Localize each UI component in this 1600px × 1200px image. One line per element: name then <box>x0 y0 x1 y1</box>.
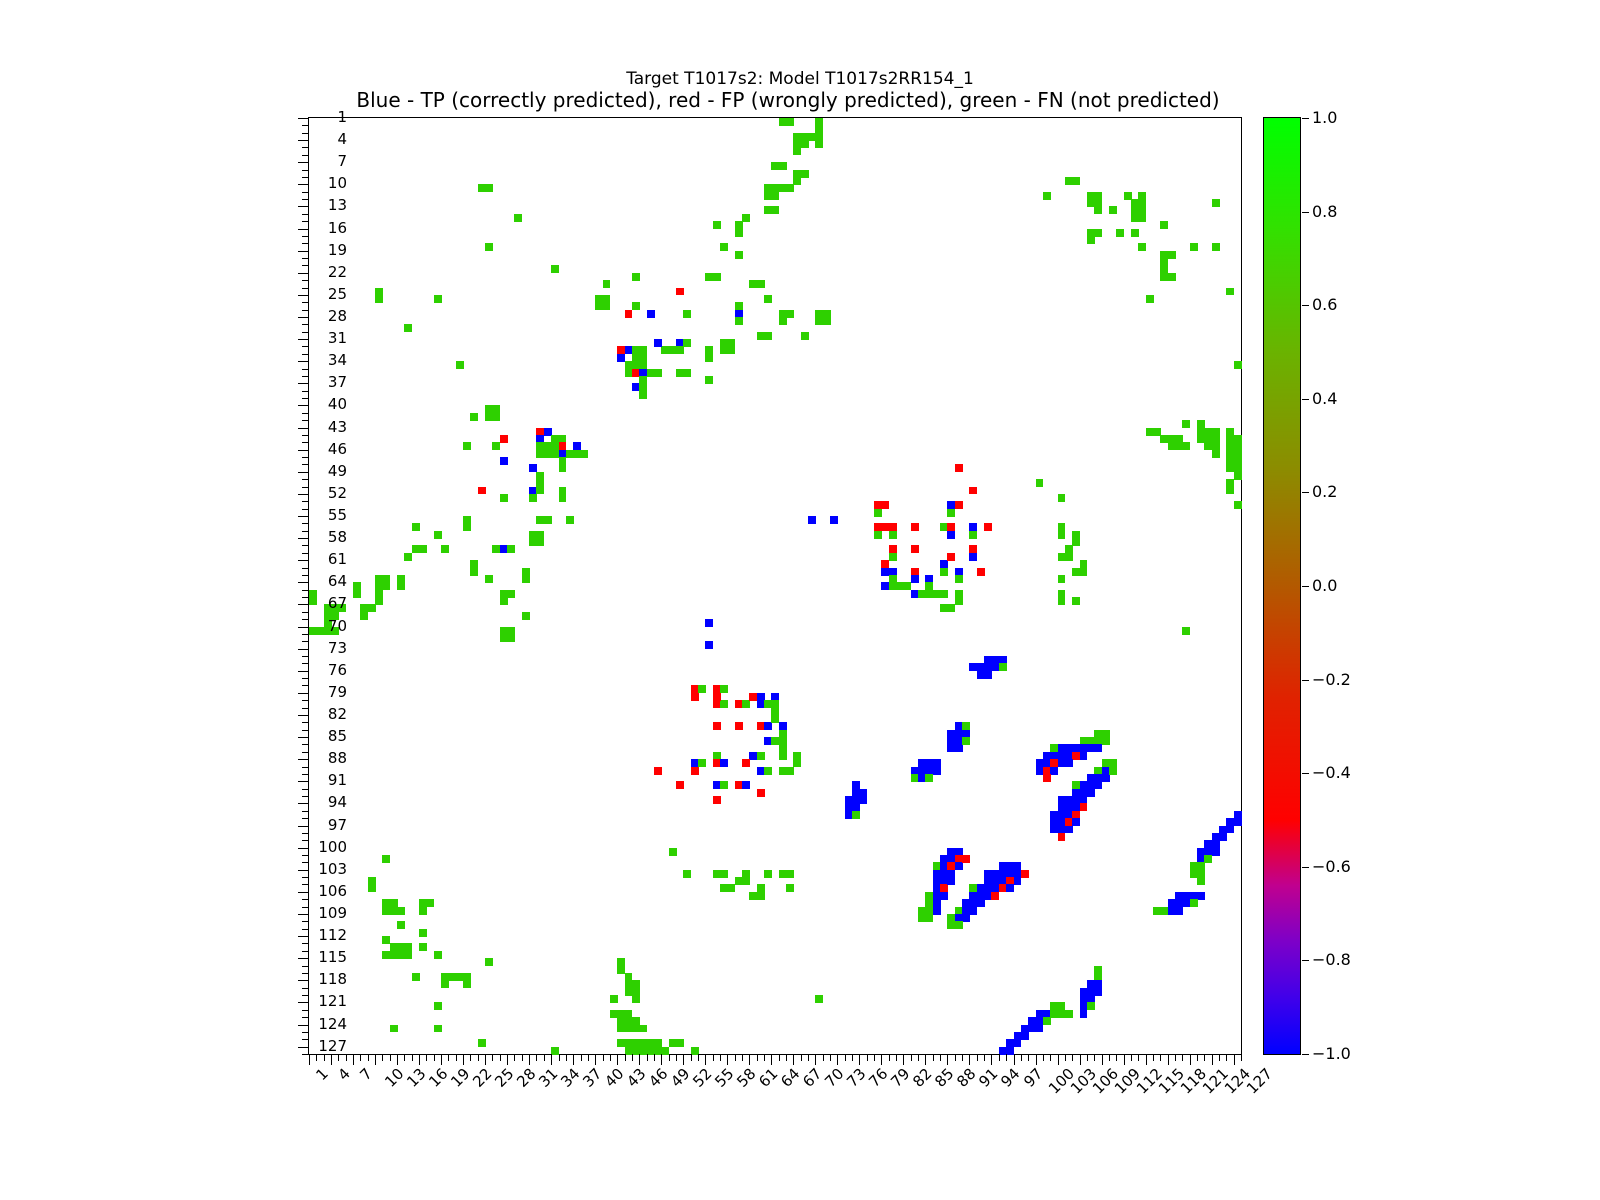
y-tick-label: 25 <box>328 287 347 302</box>
contact-cell-fn <box>404 951 412 959</box>
x-tick <box>1102 1054 1103 1065</box>
x-tick <box>1014 1054 1015 1065</box>
y-tick-label: 55 <box>328 508 347 523</box>
x-tick <box>353 1054 354 1065</box>
contact-cell-fp <box>478 487 486 495</box>
x-tick-label: 7 <box>358 1066 375 1083</box>
colorbar-tick-label: 0.2 <box>1312 484 1337 500</box>
y-tick <box>302 995 309 996</box>
y-tick <box>302 523 309 524</box>
x-tick <box>698 1054 699 1061</box>
y-tick <box>302 435 309 436</box>
x-tick <box>448 1054 449 1061</box>
y-tick <box>298 295 309 296</box>
contact-cell-fn <box>419 929 427 937</box>
contact-cell-fn <box>434 1025 442 1033</box>
y-tick-label: 58 <box>328 530 347 545</box>
y-tick <box>298 206 309 207</box>
colorbar-tick <box>1302 212 1309 213</box>
contact-cell-fn <box>390 1025 398 1033</box>
y-tick <box>302 391 309 392</box>
contact-cell-fn <box>544 516 552 524</box>
contact-cell-fn <box>536 538 544 546</box>
x-tick <box>1006 1054 1007 1061</box>
contact-cell-tp <box>1080 1010 1088 1018</box>
y-tick-label: 124 <box>318 1017 347 1032</box>
x-tick <box>368 1054 369 1061</box>
contact-cell-fn <box>1058 531 1066 539</box>
y-tick <box>298 317 309 318</box>
y-tick <box>302 332 309 333</box>
contact-cell-fp <box>911 545 919 553</box>
contact-cell-tp <box>654 339 662 347</box>
y-tick-label: 7 <box>337 154 347 169</box>
contact-cell-fn <box>485 243 493 251</box>
contact-cell-fn <box>1094 206 1102 214</box>
x-tick <box>603 1054 604 1061</box>
y-tick-label: 61 <box>328 552 347 567</box>
contact-cell-fn <box>1072 597 1080 605</box>
y-tick <box>302 722 309 723</box>
y-tick <box>302 221 309 222</box>
contact-cell-tp <box>947 531 955 539</box>
contact-cell-fn <box>713 221 721 229</box>
x-tick-label: 4 <box>336 1066 353 1083</box>
x-tick <box>727 1054 728 1065</box>
x-tick <box>1094 1054 1095 1061</box>
x-tick <box>360 1054 361 1061</box>
contact-cell-fn <box>793 759 801 767</box>
contact-cell-fn <box>514 214 522 222</box>
y-tick <box>298 1047 309 1048</box>
contact-cell-fn <box>1058 575 1066 583</box>
y-tick-label: 73 <box>328 641 347 656</box>
x-tick-label: 1 <box>314 1066 331 1083</box>
contact-cell-tp <box>500 457 508 465</box>
x-tick <box>764 1054 765 1061</box>
x-tick <box>1175 1054 1176 1061</box>
y-tick <box>298 958 309 959</box>
contact-cell-fn <box>801 140 809 148</box>
x-tick <box>485 1054 486 1065</box>
contact-cell-fp <box>991 892 999 900</box>
y-tick-label: 52 <box>328 486 347 501</box>
y-tick <box>302 921 309 922</box>
x-tick <box>1160 1054 1161 1061</box>
x-tick <box>441 1054 442 1065</box>
colorbar-tick-label: −0.6 <box>1312 859 1351 875</box>
x-tick <box>874 1054 875 1061</box>
x-tick <box>713 1054 714 1061</box>
y-tick <box>302 685 309 686</box>
x-tick <box>1036 1054 1037 1065</box>
contact-cell-tp <box>969 553 977 561</box>
y-tick <box>302 752 309 753</box>
x-tick <box>324 1054 325 1061</box>
contact-cell-fn <box>500 494 508 502</box>
x-tick <box>779 1054 780 1061</box>
contact-cell-fp <box>713 722 721 730</box>
contact-cell-tp <box>1175 907 1183 915</box>
x-tick <box>911 1054 912 1061</box>
contact-cell-fn <box>786 870 794 878</box>
contact-cell-fp <box>955 501 963 509</box>
x-tick <box>955 1054 956 1061</box>
contact-cell-fn <box>1226 487 1234 495</box>
contact-cell-fn <box>735 317 743 325</box>
x-tick <box>309 1054 310 1065</box>
contact-cell-fn <box>969 531 977 539</box>
colorbar-tick <box>1302 586 1309 587</box>
contact-cell-fn <box>683 369 691 377</box>
y-tick <box>302 641 309 642</box>
x-tick <box>1058 1054 1059 1065</box>
colorbar-gradient <box>1264 118 1300 1054</box>
contact-cell-fp <box>735 722 743 730</box>
contact-cell-fn <box>522 612 530 620</box>
contact-cell-fn <box>1138 214 1146 222</box>
contact-cell-tp <box>1087 789 1095 797</box>
x-tick <box>507 1054 508 1065</box>
contact-cell-fp <box>947 553 955 561</box>
contact-cell-tp <box>830 516 838 524</box>
contact-cell-fn <box>426 899 434 907</box>
x-tick <box>1234 1054 1235 1065</box>
y-tick <box>302 265 309 266</box>
x-tick <box>837 1054 838 1065</box>
contact-cell-fn <box>492 442 500 450</box>
x-tick <box>1153 1054 1154 1061</box>
colorbar-tick-label: 0.4 <box>1312 391 1337 407</box>
y-tick <box>298 162 309 163</box>
x-tick <box>852 1054 853 1061</box>
contact-cell-fn <box>485 575 493 583</box>
x-tick <box>588 1054 589 1061</box>
y-tick-label: 127 <box>318 1039 347 1054</box>
contact-cell-fp <box>969 487 977 495</box>
x-tick <box>331 1054 332 1065</box>
contact-cell-tp <box>647 310 655 318</box>
y-tick <box>298 693 309 694</box>
y-tick <box>302 1017 309 1018</box>
contact-cell-fn <box>1036 479 1044 487</box>
x-tick <box>1116 1054 1117 1061</box>
contact-cell-fn <box>669 1039 677 1047</box>
x-tick <box>933 1054 934 1061</box>
colorbar-tick <box>1302 960 1309 961</box>
colorbar-tick <box>1302 118 1309 119</box>
y-tick <box>298 229 309 230</box>
x-tick <box>382 1054 383 1061</box>
x-tick <box>639 1054 640 1065</box>
y-tick <box>302 398 309 399</box>
contact-cell-fp <box>691 767 699 775</box>
x-tick <box>1138 1054 1139 1061</box>
y-tick-label: 64 <box>328 574 347 589</box>
x-tick <box>984 1054 985 1061</box>
y-tick <box>298 914 309 915</box>
contact-cell-fp <box>881 501 889 509</box>
y-tick <box>302 855 309 856</box>
contact-cell-fn <box>456 361 464 369</box>
x-tick <box>536 1054 537 1061</box>
x-tick <box>412 1054 413 1061</box>
contact-cell-fn <box>1087 1002 1095 1010</box>
contact-cell-tp <box>940 892 948 900</box>
y-tick-label: 31 <box>328 331 347 346</box>
y-tick-label: 34 <box>328 353 347 368</box>
contact-cell-fn <box>698 685 706 693</box>
contact-cell-fn <box>1043 1017 1051 1025</box>
contact-cell-fn <box>559 464 567 472</box>
y-tick-label: 88 <box>328 751 347 766</box>
contact-cell-fn <box>639 391 647 399</box>
y-tick <box>302 744 309 745</box>
x-tick <box>801 1054 802 1061</box>
y-tick <box>302 590 309 591</box>
x-tick <box>867 1054 868 1061</box>
contact-cell-tp <box>1014 1039 1022 1047</box>
contact-cell-fn <box>735 251 743 259</box>
y-tick <box>302 597 309 598</box>
x-tick <box>1190 1054 1191 1065</box>
x-tick <box>1043 1054 1044 1061</box>
x-tick <box>1028 1054 1029 1061</box>
x-tick <box>896 1054 897 1061</box>
y-tick-label: 100 <box>318 840 347 855</box>
contact-cell-fn <box>757 280 765 288</box>
contact-cell-fn <box>757 892 765 900</box>
y-tick <box>298 715 309 716</box>
contact-cell-tp <box>933 767 941 775</box>
contact-cell-fn <box>412 973 420 981</box>
y-tick <box>298 1025 309 1026</box>
y-tick <box>302 457 309 458</box>
y-tick <box>302 1054 309 1055</box>
y-tick <box>298 472 309 473</box>
contact-cell-fn <box>375 295 383 303</box>
contact-cell-fn <box>434 531 442 539</box>
y-tick <box>302 531 309 532</box>
y-tick-label: 70 <box>328 619 347 634</box>
contact-cell-fn <box>485 184 493 192</box>
y-tick <box>302 774 309 775</box>
contact-cell-fn <box>786 767 794 775</box>
contact-cell-tp <box>764 722 772 730</box>
y-tick <box>302 663 309 664</box>
contact-cell-fn <box>1058 597 1066 605</box>
contact-cell-fn <box>757 752 765 760</box>
y-tick <box>298 450 309 451</box>
y-tick-label: 103 <box>318 862 347 877</box>
contact-cell-tp <box>933 907 941 915</box>
y-tick <box>302 818 309 819</box>
x-tick <box>1212 1054 1213 1065</box>
contact-cell-fp <box>1080 803 1088 811</box>
x-tick <box>1050 1054 1051 1061</box>
colorbar-tick <box>1302 867 1309 868</box>
contact-cell-fn <box>1234 501 1242 509</box>
x-tick <box>419 1054 420 1065</box>
contact-cell-fn <box>463 523 471 531</box>
x-tick <box>647 1054 648 1061</box>
contact-cell-fn <box>889 531 897 539</box>
x-tick <box>889 1054 890 1061</box>
contact-cell-tp <box>1080 752 1088 760</box>
y-tick-label: 19 <box>328 243 347 258</box>
contact-cell-fn <box>463 442 471 450</box>
contact-cell-fn <box>720 870 728 878</box>
y-tick <box>302 1032 309 1033</box>
y-tick <box>298 184 309 185</box>
x-tick <box>463 1054 464 1065</box>
contact-cell-fp <box>676 781 684 789</box>
contact-cell-fn <box>720 243 728 251</box>
contact-cell-tp <box>1006 884 1014 892</box>
x-tick <box>720 1054 721 1061</box>
contact-cell-fn <box>412 523 420 531</box>
y-tick <box>302 1039 309 1040</box>
contact-cell-tp <box>808 516 816 524</box>
y-tick <box>298 737 309 738</box>
contact-cell-fn <box>522 575 530 583</box>
x-tick <box>676 1054 677 1061</box>
y-tick <box>302 568 309 569</box>
x-tick <box>823 1054 824 1061</box>
contact-cell-fp <box>757 789 765 797</box>
contact-cell-fn <box>947 604 955 612</box>
y-tick <box>302 700 309 701</box>
contact-cell-fn <box>874 531 882 539</box>
y-tick-label: 43 <box>328 420 347 435</box>
x-tick <box>544 1054 545 1061</box>
x-tick <box>404 1054 405 1061</box>
y-tick <box>302 288 309 289</box>
contact-cell-tp <box>1094 744 1102 752</box>
y-tick <box>302 258 309 259</box>
contact-cell-tp <box>1036 1025 1044 1033</box>
y-tick <box>302 973 309 974</box>
y-tick <box>302 553 309 554</box>
x-tick <box>1168 1054 1169 1065</box>
contact-cell-fn <box>551 265 559 273</box>
contact-cell-fn <box>1212 243 1220 251</box>
contact-cell-tp <box>1021 1032 1029 1040</box>
y-tick-label: 118 <box>318 972 347 987</box>
x-tick <box>749 1054 750 1065</box>
y-tick <box>302 634 309 635</box>
y-tick <box>298 361 309 362</box>
x-tick <box>470 1054 471 1061</box>
contact-cell-fn <box>676 346 684 354</box>
contact-cell-fn <box>786 118 794 126</box>
x-tick <box>845 1054 846 1061</box>
contact-cell-fn <box>1234 361 1242 369</box>
x-tick <box>991 1054 992 1065</box>
contact-cell-tp <box>962 914 970 922</box>
y-tick <box>302 324 309 325</box>
y-tick-label: 46 <box>328 442 347 457</box>
contact-cell-fn <box>823 317 831 325</box>
contact-map-plot[interactable] <box>308 117 1242 1055</box>
contact-cell-fn <box>559 494 567 502</box>
contact-cell-fn <box>368 884 376 892</box>
y-tick <box>302 125 309 126</box>
x-tick <box>903 1054 904 1065</box>
contact-cell-fn <box>536 487 544 495</box>
x-tick <box>969 1054 970 1065</box>
y-tick <box>298 980 309 981</box>
y-tick <box>302 966 309 967</box>
x-tick <box>529 1054 530 1065</box>
contact-cell-fn <box>669 848 677 856</box>
x-tick <box>581 1054 582 1061</box>
contact-cell-fn <box>742 877 750 885</box>
y-tick <box>302 899 309 900</box>
y-tick <box>302 369 309 370</box>
contact-cell-tp <box>742 781 750 789</box>
contact-cell-fn <box>1226 288 1234 296</box>
contact-cell-fn <box>947 509 955 517</box>
contact-cell-fp <box>713 796 721 804</box>
y-tick-label: 4 <box>337 132 347 147</box>
contact-cell-fn <box>404 324 412 332</box>
contact-cell-tp <box>911 575 919 583</box>
contact-cell-fn <box>610 995 618 1003</box>
contact-cell-tp <box>1234 818 1242 826</box>
contact-cell-fn <box>742 214 750 222</box>
contact-cell-fp <box>984 523 992 531</box>
y-tick <box>298 273 309 274</box>
contact-cell-fn <box>683 310 691 318</box>
y-tick-label: 112 <box>318 928 347 943</box>
y-tick <box>302 376 309 377</box>
x-tick <box>793 1054 794 1065</box>
y-tick <box>302 943 309 944</box>
contact-cell-fn <box>793 177 801 185</box>
x-tick <box>492 1054 493 1061</box>
y-tick <box>298 339 309 340</box>
contact-cell-fn <box>705 376 713 384</box>
y-tick-label: 40 <box>328 397 347 412</box>
y-tick <box>302 877 309 878</box>
contact-cell-fn <box>382 582 390 590</box>
y-tick <box>302 862 309 863</box>
y-tick-label: 10 <box>328 176 347 191</box>
contact-cell-fn <box>735 229 743 237</box>
contact-cell-fn <box>720 700 728 708</box>
contact-cell-fn <box>1102 737 1110 745</box>
x-tick <box>617 1054 618 1065</box>
x-tick <box>1204 1054 1205 1061</box>
x-tick <box>522 1054 523 1061</box>
y-tick <box>302 619 309 620</box>
x-tick <box>830 1054 831 1061</box>
x-tick <box>632 1054 633 1061</box>
y-tick <box>302 929 309 930</box>
y-tick-label: 16 <box>328 221 347 236</box>
contact-cell-tp <box>705 641 713 649</box>
y-tick <box>302 796 309 797</box>
contact-cell-fn <box>815 995 823 1003</box>
y-tick <box>302 302 309 303</box>
contact-cell-fn <box>566 516 574 524</box>
contact-cell-fn <box>955 575 963 583</box>
contact-cell-fn <box>720 685 728 693</box>
contact-cell-fn <box>434 951 442 959</box>
y-tick <box>302 708 309 709</box>
contact-cell-fp <box>500 435 508 443</box>
